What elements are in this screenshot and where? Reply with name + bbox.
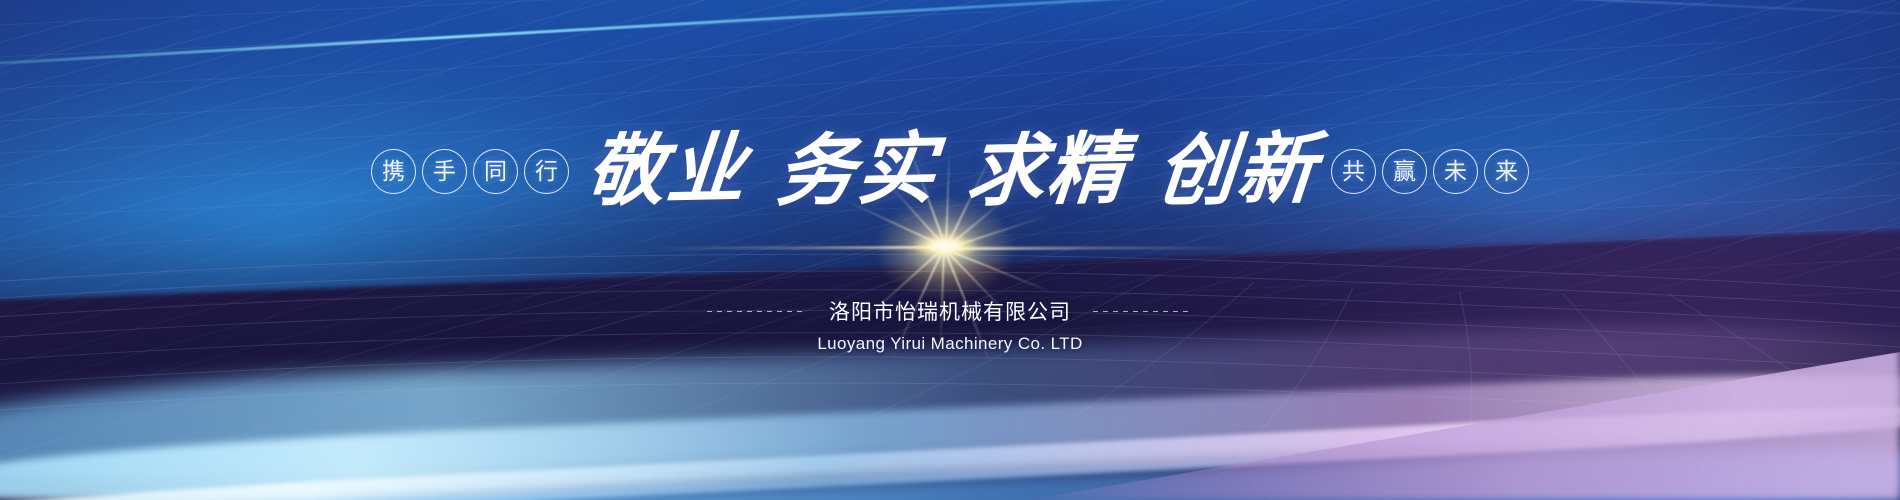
divider-dash-right: [1093, 311, 1193, 312]
calligraphy-slogan: 敬业 务实 求精 创新: [587, 132, 1317, 210]
calligraphy-word: 敬业: [584, 130, 751, 211]
circled-character: 赢: [1382, 149, 1427, 194]
company-culture-banner: 携 手 同 行 敬业 务实 求精 创新 共 赢 未 来 洛阳市怡瑞机械有限公司: [0, 0, 1900, 500]
circled-character: 共: [1331, 149, 1376, 194]
company-name-row: 洛阳市怡瑞机械有限公司: [0, 296, 1900, 326]
company-identity: 洛阳市怡瑞机械有限公司 Luoyang Yirui Machinery Co. …: [0, 296, 1900, 354]
divider-dash-left: [707, 311, 807, 312]
circled-character: 行: [524, 149, 569, 194]
circled-character: 来: [1484, 149, 1529, 194]
right-circled-characters: 共 赢 未 来: [1331, 149, 1529, 194]
company-name-cn: 洛阳市怡瑞机械有限公司: [829, 296, 1071, 326]
calligraphy-word: 创新: [1154, 130, 1321, 211]
company-name-en: Luoyang Yirui Machinery Co. LTD: [817, 334, 1082, 354]
calligraphy-word: 务实: [774, 130, 941, 211]
calligraphy-word: 求精: [964, 130, 1131, 211]
slogan-row: 携 手 同 行 敬业 务实 求精 创新 共 赢 未 来: [0, 132, 1900, 210]
circled-character: 携: [371, 149, 416, 194]
circled-character: 未: [1433, 149, 1478, 194]
circled-character: 手: [422, 149, 467, 194]
left-circled-characters: 携 手 同 行: [371, 149, 569, 194]
banner-content: 携 手 同 行 敬业 务实 求精 创新 共 赢 未 来 洛阳市怡瑞机械有限公司: [0, 0, 1900, 500]
circled-character: 同: [473, 149, 518, 194]
